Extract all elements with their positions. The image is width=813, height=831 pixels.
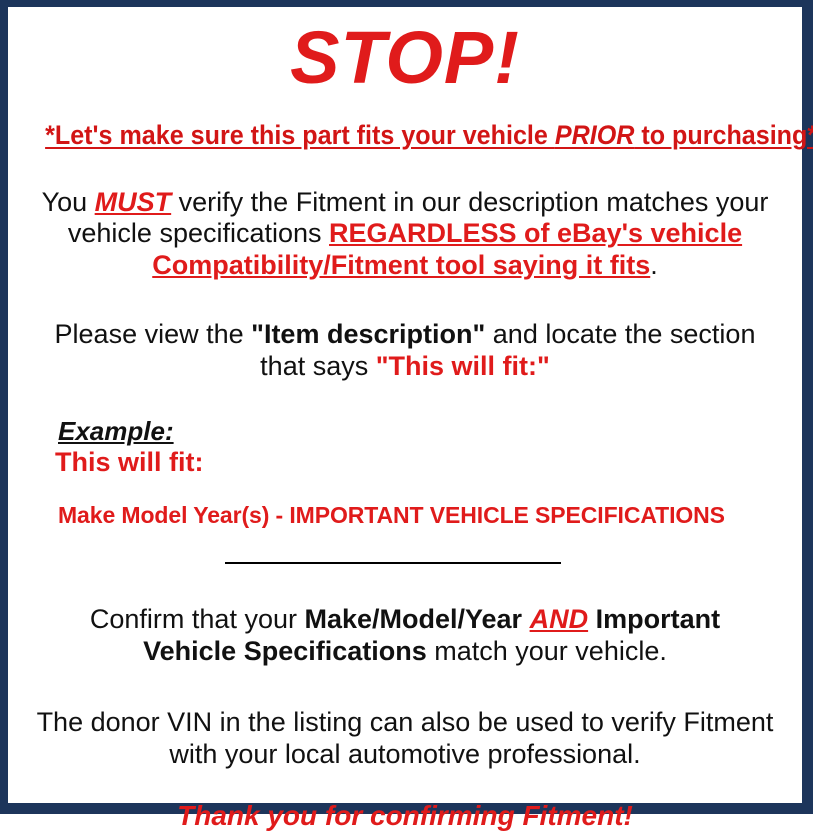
subtitle-emphasis-prior: PRIOR xyxy=(555,120,635,150)
emphasis-make-model-year: Make/Model/Year xyxy=(304,604,522,634)
divider-container xyxy=(18,554,792,568)
must-segment-1: You xyxy=(42,187,95,217)
paragraph-must-verify: You MUST verify the Fitment in our descr… xyxy=(18,187,792,282)
page-title: STOP! xyxy=(18,21,792,95)
view-segment-1: Please view the xyxy=(55,319,252,349)
paragraph-item-description: Please view the "Item description" and l… xyxy=(18,319,792,382)
example-label: Example: xyxy=(58,417,174,445)
confirm-space-1 xyxy=(522,604,530,634)
subtitle-banner: *Let's make sure this part fits your veh… xyxy=(45,121,765,151)
emphasis-this-will-fit: "This will fit:" xyxy=(376,351,550,381)
example-fit-heading: This will fit: xyxy=(55,447,792,477)
fitment-notice-panel: STOP! *Let's make sure this part fits yo… xyxy=(0,0,813,814)
paragraph-donor-vin: The donor VIN in the listing can also be… xyxy=(18,707,792,770)
emphasis-must: MUST xyxy=(95,187,172,217)
subtitle-text-before: *Let's make sure this part fits your veh… xyxy=(45,120,555,150)
confirm-segment-1: Confirm that your xyxy=(90,604,305,634)
example-block: Example: This will fit: Make Model Year(… xyxy=(18,417,792,529)
example-spec-line: Make Model Year(s) - IMPORTANT VEHICLE S… xyxy=(58,503,792,528)
emphasis-item-description: "Item description" xyxy=(251,319,485,349)
must-segment-3: . xyxy=(650,250,658,280)
confirm-space-2 xyxy=(588,604,596,634)
subtitle-text-after: to purchasing* xyxy=(634,120,813,150)
confirm-segment-2: match your vehicle. xyxy=(427,636,667,666)
notice-content: STOP! *Let's make sure this part fits yo… xyxy=(8,21,802,817)
emphasis-and: AND xyxy=(530,604,589,634)
paragraph-confirm: Confirm that your Make/Model/Year AND Im… xyxy=(18,604,792,667)
horizontal-divider xyxy=(225,562,561,564)
closing-thank-you: Thank you for confirming Fitment! xyxy=(18,801,792,831)
